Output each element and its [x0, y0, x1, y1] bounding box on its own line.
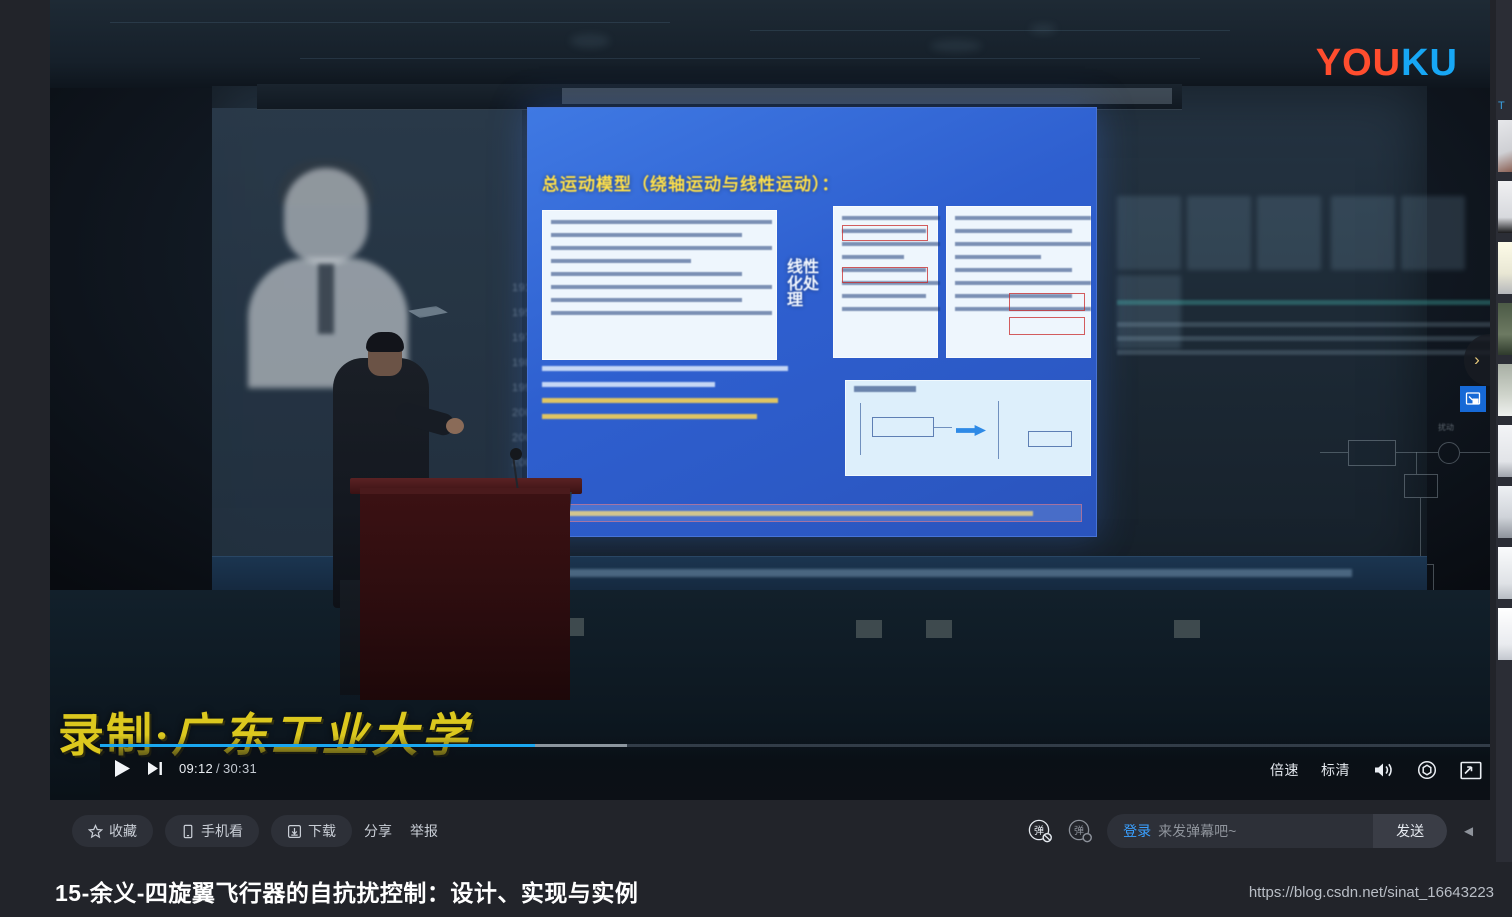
svg-text:弹: 弹 [1074, 824, 1084, 837]
playback-speed-button[interactable]: 倍速 [1270, 760, 1299, 780]
microphone-head [510, 448, 522, 460]
portrait-tie [318, 264, 334, 334]
slide-equation-block-left [542, 210, 777, 360]
playlist-thumbnail[interactable] [1498, 425, 1512, 477]
speaker-hand [446, 418, 464, 434]
share-button[interactable]: 分享 [364, 821, 392, 841]
playlist-thumbnail[interactable] [1498, 242, 1512, 294]
wall-paragraph-ghost [1117, 322, 1490, 386]
playlist-thumbnail[interactable] [1498, 608, 1512, 660]
slide-vertical-label: 线性化处理 [787, 210, 827, 360]
send-danmaku-button[interactable]: 发送 [1373, 814, 1447, 848]
floating-pip-icon[interactable] [1460, 386, 1486, 412]
page-root: T [0, 0, 1512, 917]
projection-screen: 总运动模型（绕轴运动与线性运动）： 线性化处理 [527, 107, 1097, 537]
danmaku-input-group[interactable]: 登录 来发弹幕吧~ 发送 [1107, 814, 1447, 848]
play-icon[interactable] [114, 759, 131, 778]
playlist-title: T [1498, 100, 1512, 114]
title-row: 15-余义-四旋翼飞行器的自抗扰控制：设计、实现与实例 https://blog… [0, 862, 1512, 917]
wall-headline-ghost [1117, 196, 1490, 286]
logo-you: YOU [1316, 42, 1401, 84]
playlist-panel[interactable]: T [1496, 0, 1512, 917]
slide-bullet-list [542, 366, 804, 430]
wall-arrow-mark [408, 306, 448, 318]
slide-equation-block-mid [833, 206, 938, 358]
collapse-panel-icon[interactable]: ◄ [1461, 823, 1476, 840]
settings-gear-icon[interactable] [1416, 759, 1438, 781]
favorite-label: 收藏 [109, 821, 137, 841]
banner-text-ghost [472, 569, 1352, 577]
current-time: 09:12 [179, 761, 213, 776]
action-bar-right: 弹 弹 登录 来发弹幕吧~ 发送 ◄ [1027, 814, 1476, 848]
playlist-thumbnail[interactable] [1498, 120, 1512, 172]
video-frame: 1914 年 1953 年 1979 年 1982 年 1998 年 2003 … [50, 0, 1490, 800]
login-link[interactable]: 登录 [1107, 821, 1158, 841]
total-duration: 30:31 [223, 761, 257, 776]
progress-played [100, 744, 535, 747]
download-icon [287, 824, 302, 839]
slide-diagram-panel [845, 380, 1091, 476]
playlist-thumbnail[interactable] [1498, 547, 1512, 599]
playlist-thumbnail[interactable] [1498, 181, 1512, 233]
playlist-thumbnail[interactable] [1498, 303, 1512, 355]
player-right-controls: 倍速 标清 [1270, 759, 1490, 781]
volume-icon[interactable] [1372, 760, 1394, 780]
danmaku-input[interactable]: 来发弹幕吧~ [1158, 821, 1373, 841]
logo-ku: KU [1401, 42, 1458, 84]
playlist-thumbnail[interactable] [1498, 486, 1512, 538]
video-player[interactable]: 1914 年 1953 年 1979 年 1982 年 1998 年 2003 … [50, 0, 1490, 800]
picture-in-picture-icon[interactable] [1460, 761, 1482, 780]
podium [360, 488, 570, 700]
progress-bar[interactable] [100, 744, 1490, 747]
wall-underline [1117, 300, 1490, 305]
watermark-url: https://blog.csdn.net/sinat_16643223 [1249, 884, 1494, 901]
action-bar-left: 收藏 手机看 下载 分享 举报 [72, 815, 456, 847]
playlist-thumbnail[interactable] [1498, 364, 1512, 416]
mobile-watch-label: 手机看 [201, 821, 243, 841]
slide-arrow-icon [956, 425, 986, 436]
phone-icon [181, 824, 195, 839]
youku-logo: YOUKU [1316, 42, 1458, 85]
time-display: 09:12/30:31 [179, 761, 257, 776]
favorite-button[interactable]: 收藏 [72, 815, 153, 847]
player-left-controls: 09:12/30:31 [114, 759, 257, 778]
star-icon [88, 824, 103, 839]
report-button[interactable]: 举报 [410, 821, 438, 841]
portrait-head [284, 168, 368, 264]
slide-surface: 总运动模型（绕轴运动与线性运动）： 线性化处理 [528, 108, 1096, 536]
download-button[interactable]: 下载 [271, 815, 352, 847]
time-separator: / [216, 761, 220, 776]
mobile-watch-button[interactable]: 手机看 [165, 815, 259, 847]
mount-strip [562, 88, 1172, 104]
slide-title: 总运动模型（绕轴运动与线性运动）： [542, 170, 840, 195]
next-track-icon[interactable] [147, 761, 163, 776]
ceiling [50, 0, 1490, 88]
quality-button[interactable]: 标清 [1321, 760, 1350, 780]
player-control-bar[interactable]: 09:12/30:31 倍速 标清 [100, 735, 1490, 800]
svg-text:弹: 弹 [1034, 824, 1044, 837]
page-title: 15-余义-四旋翼飞行器的自抗扰控制：设计、实现与实例 [55, 874, 638, 908]
danmaku-toggle-icon[interactable]: 弹 [1027, 818, 1053, 844]
speaker-hair [366, 332, 404, 352]
slide-footer-note [542, 504, 1082, 522]
slide-equation-block-right [946, 206, 1091, 358]
danmaku-settings-icon[interactable]: 弹 [1067, 818, 1093, 844]
action-bar: 收藏 手机看 下载 分享 举报 [50, 800, 1490, 862]
download-label: 下载 [308, 821, 336, 841]
slide-diagram-caption [854, 386, 916, 392]
